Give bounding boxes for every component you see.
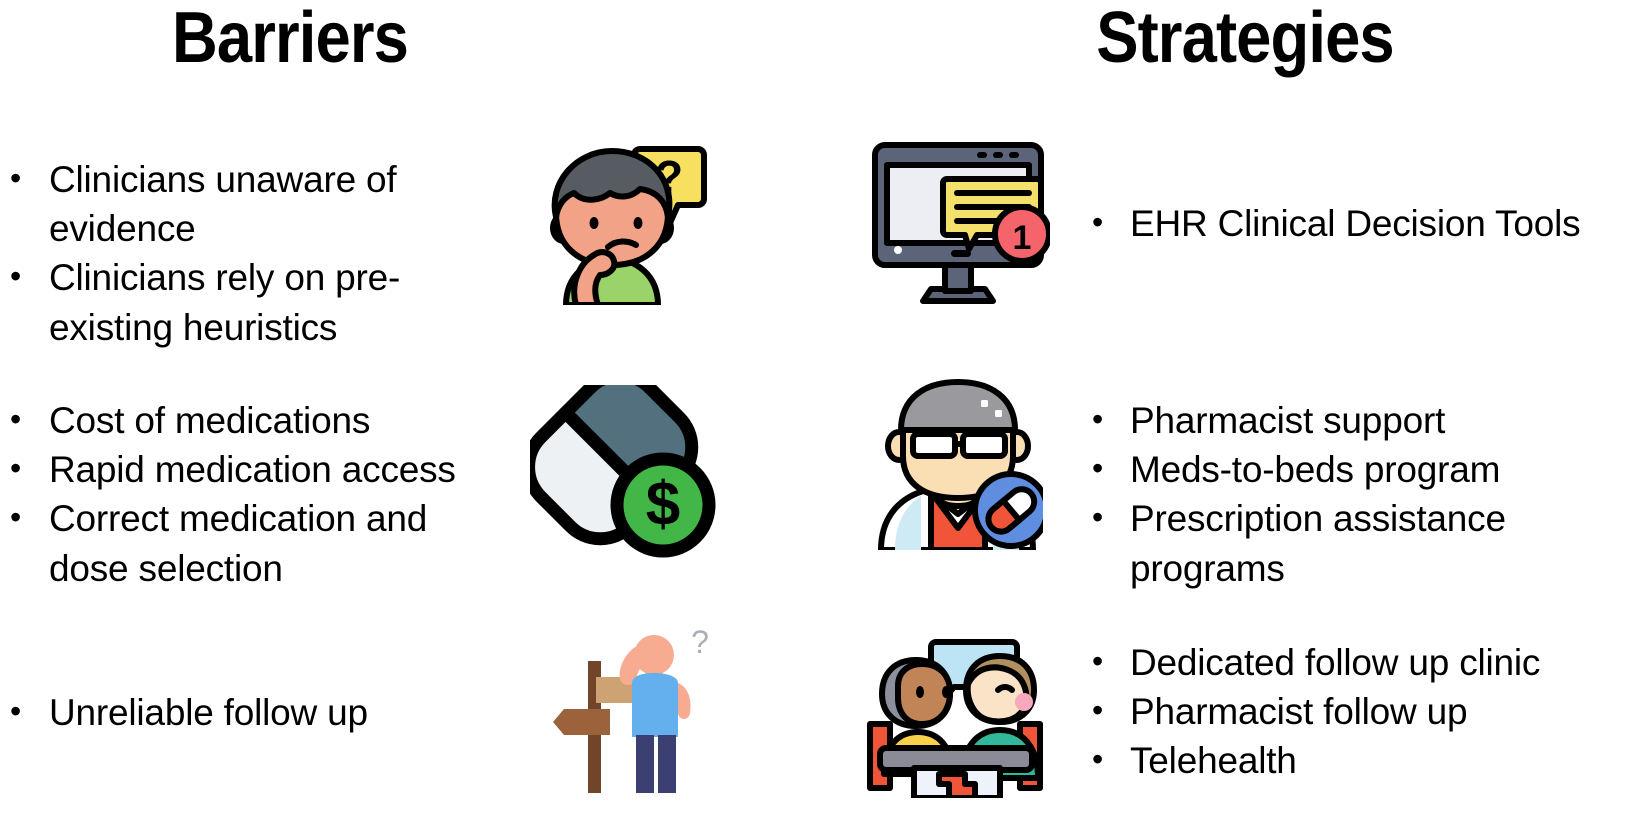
slide-canvas: Barriers Strategies Clinicians unaware o… [0, 0, 1651, 832]
list-item: Pharmacist support [1088, 396, 1648, 445]
sign-arrow-left [553, 709, 610, 735]
person-leg-left [636, 735, 654, 793]
list-item: Correct medication and dose selection [4, 494, 474, 592]
list-item: EHR Clinical Decision Tools [1088, 199, 1648, 248]
strategies-list-row-3: Dedicated follow up clinic Pharmacist fo… [1088, 638, 1648, 786]
strategies-list-row-1: EHR Clinical Decision Tools [1088, 199, 1648, 248]
thinking-person-icon: ? [536, 135, 711, 305]
list-item: Clinicians unaware of evidence [4, 155, 474, 253]
person-arm-right [678, 683, 691, 719]
signpost-lost-person-icon: ? [540, 625, 720, 793]
pill-cost-icon: $ [530, 385, 720, 560]
pharmacist-icon [873, 378, 1043, 550]
person-shirt [632, 673, 678, 737]
list-item: Prescription assistance programs [1088, 494, 1648, 592]
list-item: Telehealth [1088, 736, 1648, 785]
barriers-list-row-3: Unreliable follow up [4, 688, 474, 737]
person-leg-right [658, 735, 676, 793]
barriers-list-row-2: Cost of medications Rapid medication acc… [4, 396, 474, 593]
question-mark-glyph: ? [691, 625, 709, 660]
barriers-list-row-1: Clinicians unaware of evidence Clinician… [4, 155, 474, 352]
list-item: Pharmacist follow up [1088, 687, 1648, 736]
question-mark-glyph: ? [655, 151, 683, 203]
dollar-sign-glyph: $ [646, 470, 680, 539]
page-title-barriers: Barriers [35, 2, 545, 74]
list-item: Dedicated follow up clinic [1088, 638, 1648, 687]
ehr-monitor-icon: 1 [865, 135, 1050, 310]
page-title-strategies: Strategies [985, 2, 1504, 74]
strategies-list-row-2: Pharmacist support Meds-to-beds program … [1088, 396, 1648, 593]
list-item: Unreliable follow up [4, 688, 474, 737]
list-item: Cost of medications [4, 396, 474, 445]
consultation-icon [862, 628, 1047, 798]
list-item: Clinicians rely on pre-existing heuristi… [4, 253, 474, 351]
notification-count-badge: 1 [1013, 219, 1032, 257]
list-item: Meds-to-beds program [1088, 445, 1648, 494]
list-item: Rapid medication access [4, 445, 474, 494]
